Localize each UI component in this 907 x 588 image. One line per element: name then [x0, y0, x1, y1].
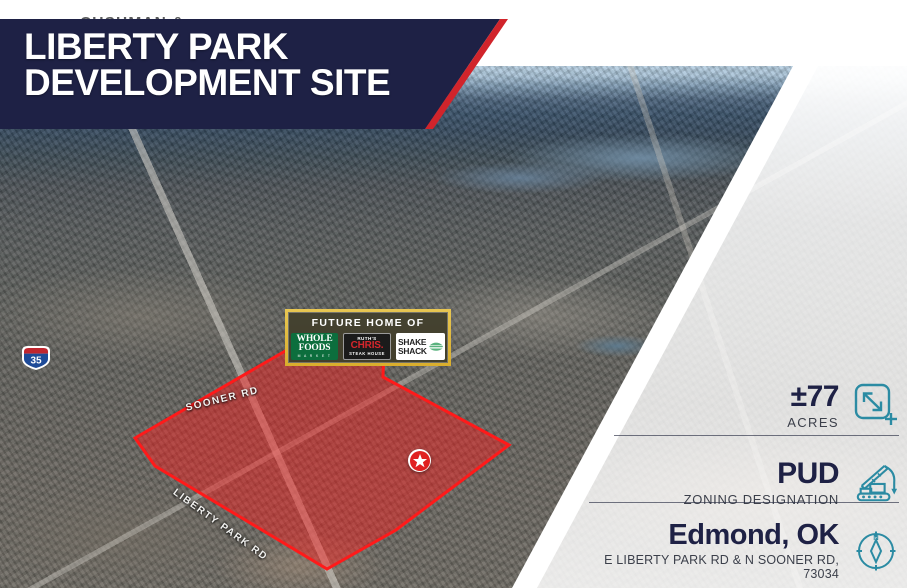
svg-text:35: 35 — [30, 356, 42, 367]
location-value: Edmond, OK — [577, 521, 839, 550]
ruths-chris-line-2: CHRIS. — [351, 341, 384, 351]
tenant-logo-ruths-chris: RUTH'S CHRIS. STEAK HOUSE — [343, 333, 391, 360]
marketing-flyer: CUSHMAN & WAKEFIELD 35 SOONER RD LIBERTY… — [0, 0, 907, 588]
page-title-line-2: DEVELOPMENT SITE — [24, 65, 390, 101]
site-star-marker[interactable] — [408, 449, 431, 472]
zoning-label: ZONING DESIGNATION — [684, 492, 839, 507]
page-title-line-1: LIBERTY PARK — [24, 29, 390, 65]
tenant-logo-shake-shack: SHAKE SHACK — [396, 333, 445, 360]
ruths-chris-line-3: STEAK HOUSE — [349, 352, 385, 356]
star-marker-icon — [410, 451, 430, 471]
burger-icon — [429, 339, 443, 354]
future-tenants-badge: FUTURE HOME OF WHOLE FOODS M A R K E T R… — [285, 309, 451, 366]
future-tenants-heading: FUTURE HOME OF — [312, 317, 425, 329]
svg-text:N: N — [873, 533, 878, 542]
interstate-shield-icon: 35 — [20, 344, 52, 372]
zoning-value: PUD — [684, 459, 839, 489]
stats-divider-1 — [614, 435, 899, 436]
compass-icon: N — [853, 528, 899, 574]
page-title: LIBERTY PARK DEVELOPMENT SITE — [24, 29, 390, 102]
acres-label: ACRES — [787, 415, 839, 430]
whole-foods-line-2: FOODS — [299, 344, 331, 354]
stat-location: Edmond, OK E LIBERTY PARK RD & N SOONER … — [577, 521, 899, 581]
shake-shack-line-2: SHACK — [398, 347, 427, 356]
stat-zoning: PUD ZONING DESIGNATION — [684, 459, 899, 507]
acres-value: ±77 — [787, 382, 839, 412]
stat-acres: ±77 ACRES — [787, 382, 899, 430]
whole-foods-line-3: M A R K E T — [298, 355, 332, 358]
tenant-logo-row: WHOLE FOODS M A R K E T RUTH'S CHRIS. ST… — [291, 333, 445, 360]
stats-divider-2 — [589, 502, 899, 503]
property-stats-panel: ±77 ACRES PUD ZONING DESIGNATION — [577, 66, 907, 588]
area-expand-plus-icon — [853, 383, 899, 429]
crane-icon — [853, 460, 899, 506]
location-address: E LIBERTY PARK RD & N SOONER RD, 73034 — [577, 553, 839, 581]
tenant-logo-whole-foods: WHOLE FOODS M A R K E T — [291, 333, 338, 360]
